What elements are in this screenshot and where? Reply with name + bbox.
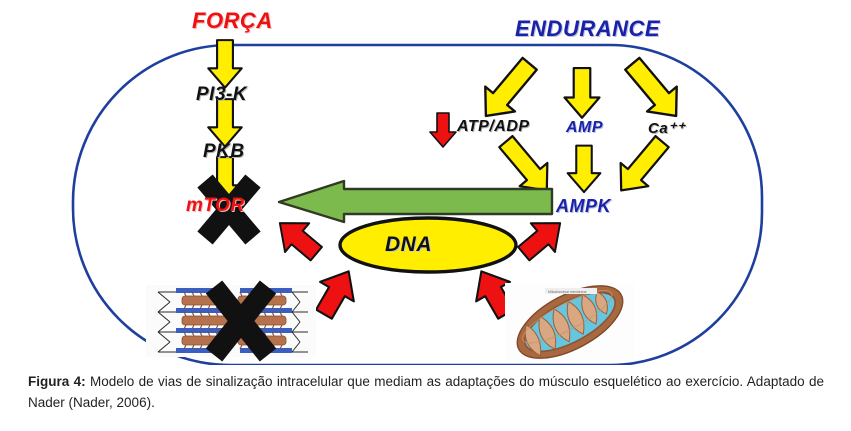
caption-text: Modelo de vias de sinalização intracelul…: [28, 374, 824, 410]
arrow-ampk-to-mtor: [279, 181, 552, 222]
label-pi3k: PI3-K: [196, 84, 247, 106]
figure-image: Mitochondrial membrane FORÇA ENDURANCE P…: [0, 0, 851, 365]
label-amp: AMP: [566, 119, 603, 137]
figure-caption: Figura 4: Modelo de vias de sinalização …: [28, 371, 824, 413]
arrow-forca-to-pi3k: [208, 40, 241, 88]
label-pkb: PKB: [203, 141, 245, 163]
arrow-capp-to-ampk: [607, 130, 676, 202]
arrow-amp-to-ampk: [568, 146, 601, 192]
arrow-endurance-to-amp: [565, 68, 600, 118]
diagram-canvas: Mitochondrial membrane: [0, 0, 851, 365]
label-forca: FORÇA: [192, 8, 273, 34]
label-ampk: AMPK: [556, 196, 611, 217]
label-calcium: Ca⁺⁺: [648, 119, 685, 137]
label-dna: DNA: [385, 233, 432, 257]
svg-text:Mitochondrial membrane: Mitochondrial membrane: [548, 290, 587, 294]
arrow-mtor-to-dna: [268, 209, 328, 268]
mitochondrion-image: Mitochondrial membrane: [505, 271, 635, 365]
arrow-pi3k-to-pkb: [208, 99, 241, 147]
red-down-arrow-icon: [430, 113, 456, 147]
caption-prefix: Figura 4:: [28, 374, 86, 389]
label-mtor: mTOR: [186, 195, 245, 217]
label-atp-adp: ATP/ADP: [457, 118, 530, 136]
label-endurance: ENDURANCE: [515, 16, 660, 42]
arrow-ampk-to-dna: [512, 209, 572, 268]
arrow-endurance-to-atpadp: [471, 51, 544, 128]
